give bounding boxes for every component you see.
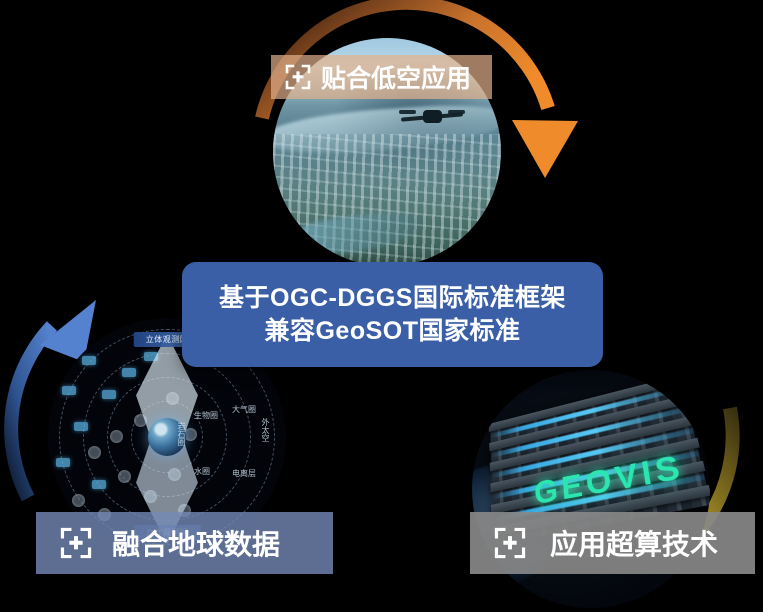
sphere-label-ionosphere: 电离层: [232, 468, 256, 479]
focus-plus-icon: [60, 527, 92, 559]
sphere-label-biosphere: 生物圈: [194, 410, 218, 421]
focus-plus-icon: [285, 64, 311, 90]
sphere-label-hydrosphere: 水圈: [194, 466, 210, 477]
label-chip-earth-data[interactable]: 融合地球数据: [36, 512, 333, 574]
label-chip-supercomputing[interactable]: 应用超算技术: [470, 512, 755, 574]
banner-line-2: 兼容GeoSOT国家标准: [264, 318, 520, 344]
focus-plus-icon: [494, 527, 526, 559]
label-text-earth-data: 融合地球数据: [112, 523, 280, 563]
label-text-supercomputing: 应用超算技术: [550, 523, 718, 563]
sphere-label-lithosphere: 岩石圈: [176, 422, 187, 446]
sphere-label-outer-space: 外太空: [260, 418, 271, 442]
banner-line-1: 基于OGC-DGGS国际标准框架: [219, 285, 566, 311]
center-standard-banner: 基于OGC-DGGS国际标准框架 兼容GeoSOT国家标准: [182, 262, 603, 367]
label-text-low-altitude: 贴合低空应用: [321, 59, 471, 95]
sphere-label-atmosphere: 大气圈: [232, 404, 256, 415]
label-chip-low-altitude[interactable]: 贴合低空应用: [271, 55, 492, 99]
infographic-canvas: 立体观测网 立体观测网 生物圈 大气圈 岩石圈 水圈 电离层 外太空 GEOVI…: [0, 0, 763, 612]
drone-icon: [401, 106, 463, 132]
